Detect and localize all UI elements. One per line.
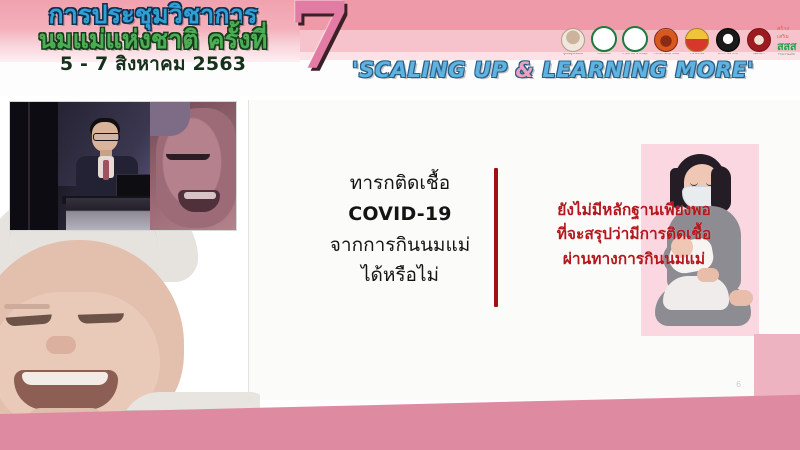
backdrop-seam bbox=[28, 102, 30, 230]
royal-seal-logo: มูลนิธิศูนย์นมแม่ bbox=[560, 23, 586, 56]
question-text-block: ทารกติดเชื้อ COVID-19 จากการกินนมแม่ ได้… bbox=[316, 168, 484, 291]
medical-council-logo: แพทยสภา bbox=[746, 23, 772, 56]
royal-crest-icon bbox=[685, 28, 709, 52]
presenter-tie bbox=[103, 160, 109, 180]
logo-caption: ราชวิทยาลัย bbox=[684, 53, 710, 56]
sponsor-logo-strip: มูลนิธิศูนย์นมแม่ กรมอนามัย กระทรวงสาธาร… bbox=[560, 20, 796, 56]
logo-caption: กระทรวงสาธารณสุข bbox=[622, 53, 648, 56]
pediatric-emblem-icon bbox=[654, 28, 678, 52]
right-pink-strip-dark bbox=[754, 398, 800, 450]
baby-teeth bbox=[22, 372, 108, 385]
speaker-webcam-inset[interactable] bbox=[10, 102, 236, 230]
nursing-emblem-icon bbox=[716, 28, 740, 52]
baby-eye-right bbox=[78, 313, 124, 324]
logo-caption: กรมอนามัย bbox=[591, 53, 617, 56]
presenter-scene bbox=[10, 102, 158, 230]
conference-slogan: 'SCALING UP & LEARNING MORE' bbox=[352, 58, 792, 82]
sss-sub-text: Thai Health bbox=[778, 52, 795, 56]
baby-nose bbox=[46, 336, 76, 354]
conference-title: การประชุมวิชาการ นมแม่แห่งชาติ ครั้งที่ … bbox=[18, 2, 288, 74]
question-line-1: ทารกติดเชื้อ bbox=[316, 168, 484, 199]
sss-main-text: สสส bbox=[777, 41, 796, 52]
answer-line-3: ผ่านทางการกินนมแม่ bbox=[506, 247, 762, 271]
health-emblem-icon bbox=[591, 26, 617, 52]
mother-foot bbox=[729, 290, 753, 306]
baby-closeup-scene bbox=[150, 102, 236, 230]
bottom-band-dark bbox=[0, 390, 800, 450]
answer-text-block: ยังไม่มีหลักฐานเพียงพอ ที่จะสรุปว่ามีการ… bbox=[506, 198, 762, 271]
ministry-health-logo-1: กรมอนามัย bbox=[591, 23, 617, 56]
conference-header-banner: การประชุมวิชาการ นมแม่แห่งชาติ ครั้งที่ … bbox=[0, 0, 800, 96]
answer-line-2: ที่จะสรุปว่ามีการติดเชื้อ bbox=[506, 222, 762, 246]
health-emblem-icon bbox=[622, 26, 648, 52]
logo-caption: สภาการพยาบาล bbox=[715, 53, 741, 56]
nursing-council-logo: สภาการพยาบาล bbox=[715, 23, 741, 56]
logo-caption: ราชวิทยาลัยกุมารแพทย์ bbox=[653, 53, 679, 56]
thai-pediatric-logo: ราชวิทยาลัยกุมารแพทย์ bbox=[653, 23, 679, 56]
medical-emblem-icon bbox=[747, 28, 771, 52]
conference-date: 5 - 7 สิงหาคม 2563 bbox=[18, 55, 288, 75]
podium bbox=[66, 198, 162, 230]
conference-title-line-2: นมแม่แห่งชาติ ครั้งที่ bbox=[18, 27, 288, 53]
royal-seal-icon bbox=[561, 28, 585, 52]
glasses-icon bbox=[93, 133, 120, 141]
slogan-ampersand: & bbox=[516, 58, 535, 82]
bottom-pink-band bbox=[0, 386, 800, 450]
question-line-3: จากการกินนมแม่ bbox=[316, 230, 484, 261]
video-baby-eye bbox=[166, 154, 210, 160]
slogan-prefix: 'SCALING UP bbox=[352, 58, 516, 82]
blanket bbox=[663, 276, 729, 310]
logo-caption: มูลนิธิศูนย์นมแม่ bbox=[560, 53, 586, 56]
baby-eyebrow bbox=[4, 304, 50, 309]
sss-top-text: สร้างเสริม bbox=[777, 25, 796, 41]
conference-title-line-1: การประชุมวิชาการ bbox=[18, 2, 288, 28]
thaihealth-sss-logo: สร้างเสริม สสส Thai Health bbox=[777, 23, 796, 56]
stage-backdrop bbox=[10, 102, 58, 230]
slogan-suffix: LEARNING MORE' bbox=[534, 58, 754, 82]
video-baby-teeth bbox=[184, 192, 216, 199]
edition-number: 7 bbox=[288, 0, 352, 82]
logo-caption: แพทยสภา bbox=[746, 53, 772, 56]
vertical-divider bbox=[494, 168, 498, 307]
royal-college-logo: ราชวิทยาลัย bbox=[684, 23, 710, 56]
ministry-health-logo-2: กระทรวงสาธารณสุข bbox=[622, 23, 648, 56]
question-line-2: COVID-19 bbox=[316, 199, 484, 230]
answer-line-1: ยังไม่มีหลักฐานเพียงพอ bbox=[506, 198, 762, 222]
question-line-4: ได้หรือไม่ bbox=[316, 260, 484, 291]
slide-screenshot: ทารกติดเชื้อ COVID-19 จากการกินนมแม่ ได้… bbox=[0, 0, 800, 450]
